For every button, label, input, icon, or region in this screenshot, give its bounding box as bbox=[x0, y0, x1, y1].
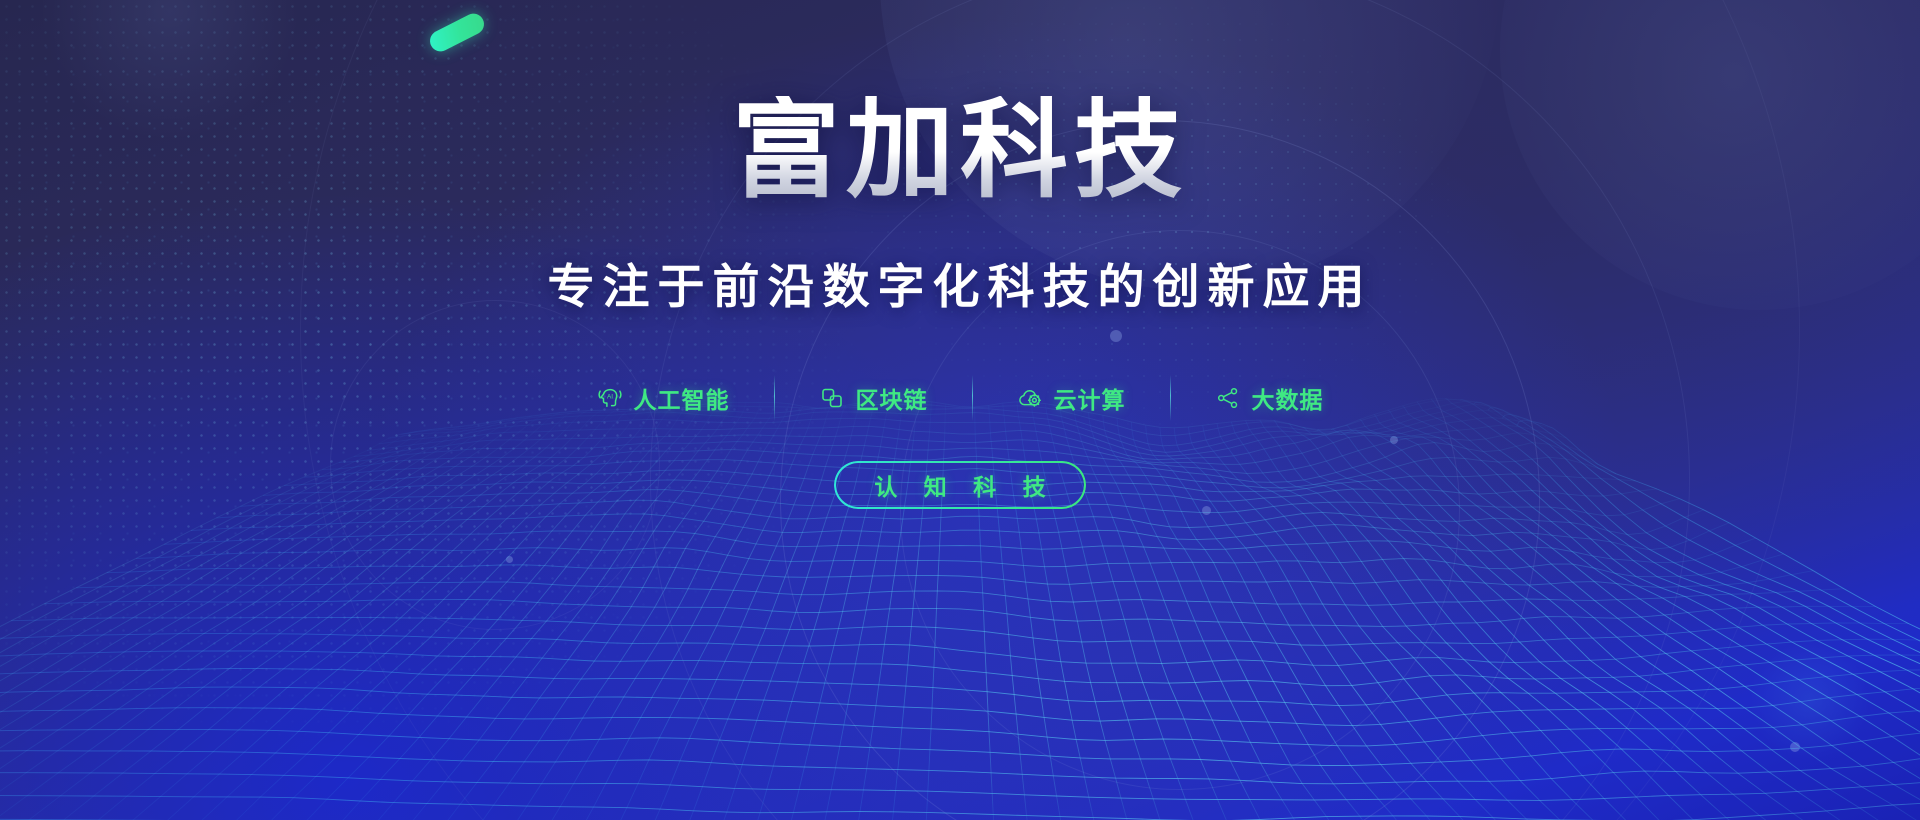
feature-tag-label: 人工智能 bbox=[634, 381, 730, 415]
feature-tag-label: 大数据 bbox=[1252, 381, 1324, 415]
feature-tag-label: 云计算 bbox=[1054, 381, 1126, 415]
feature-tag-cloud[interactable]: 云计算 bbox=[973, 381, 1170, 415]
feature-tag-label: 区块链 bbox=[856, 381, 928, 415]
feature-tag-ai[interactable]: AI 人工智能 bbox=[553, 381, 774, 415]
brand-logo-title: 富加科技 bbox=[732, 96, 1188, 204]
feature-tag-blockchain[interactable]: 区块链 bbox=[775, 381, 972, 415]
cta-button[interactable]: 认 知 科 技 bbox=[834, 461, 1085, 509]
share-nodes-icon bbox=[1215, 385, 1241, 411]
blockchain-blocks-icon bbox=[819, 385, 845, 411]
hero-banner: 富加科技 专注于前沿数字化科技的创新应用 AI 人工智能 bbox=[0, 0, 1920, 820]
cta-button-label: 认 知 科 技 bbox=[864, 468, 1055, 502]
svg-text:AI: AI bbox=[606, 394, 612, 401]
logo-accent-stroke bbox=[426, 10, 487, 55]
feature-tag-list: AI 人工智能 区块链 bbox=[553, 375, 1368, 421]
hero-subtitle: 专注于前沿数字化科技的创新应用 bbox=[548, 248, 1373, 317]
hero-content: 富加科技 专注于前沿数字化科技的创新应用 AI 人工智能 bbox=[0, 0, 1920, 820]
ai-head-icon: AI bbox=[597, 385, 623, 411]
cloud-gear-icon bbox=[1017, 385, 1043, 411]
feature-tag-bigdata[interactable]: 大数据 bbox=[1171, 381, 1368, 415]
